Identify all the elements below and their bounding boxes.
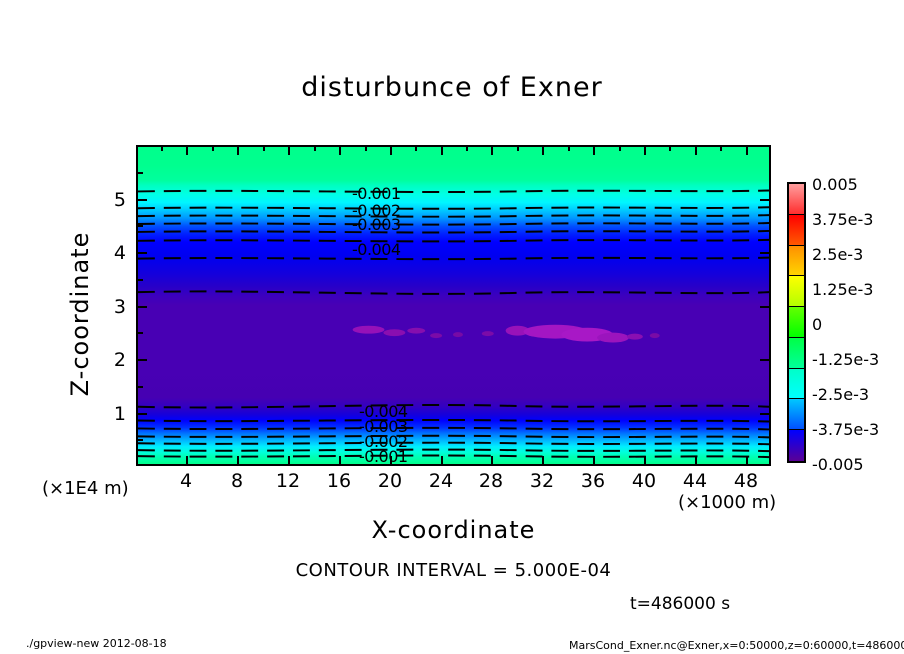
axis-tick-top-minor <box>161 145 163 151</box>
colorbar-band <box>789 399 804 430</box>
axis-tick-top <box>441 145 443 155</box>
axis-tick-left <box>136 413 147 415</box>
axis-tick-bottom <box>237 456 239 466</box>
colorbar-tick-label: -1.25e-3 <box>812 350 879 369</box>
axis-tick-top-minor <box>568 145 570 151</box>
axis-tick-left-minor <box>136 225 143 227</box>
footer-source: MarsCond_Exner.nc@Exner,x=0:50000,z=0:60… <box>569 639 904 652</box>
axis-tick-left-minor <box>136 172 143 174</box>
axis-tick-top <box>542 145 544 155</box>
x-tick-label: 4 <box>166 470 206 492</box>
colorbar-band <box>789 246 804 277</box>
axis-tick-top-minor <box>212 145 214 151</box>
x-axis-title: X-coordinate <box>136 516 771 544</box>
axis-tick-top <box>390 145 392 155</box>
axis-tick-bottom <box>593 456 595 466</box>
axis-tick-top <box>746 145 748 155</box>
colorbar-band <box>789 215 804 246</box>
axis-tick-top-minor <box>365 145 367 151</box>
axis-tick-top <box>491 145 493 155</box>
colorbar-tick-label: 2.5e-3 <box>812 245 863 264</box>
colorbar-tick-label: -2.5e-3 <box>812 385 869 404</box>
axis-tick-bottom <box>695 456 697 466</box>
axis-tick-top-minor <box>669 145 671 151</box>
contour-label: -0.004 <box>352 240 401 259</box>
axis-tick-left-minor <box>136 439 143 441</box>
axis-tick-bottom <box>390 456 392 466</box>
x-tick-label: 36 <box>573 470 613 492</box>
axis-tick-left <box>136 359 147 361</box>
axis-tick-top <box>186 145 188 155</box>
contour-interval-text: CONTOUR INTERVAL = 5.000E-04 <box>136 560 771 581</box>
axis-tick-left <box>136 199 147 201</box>
axis-tick-top <box>288 145 290 155</box>
colorbar-tick-label: 1.25e-3 <box>812 280 873 299</box>
y-tick-label: 2 <box>90 349 126 371</box>
x-tick-label: 8 <box>217 470 257 492</box>
axis-tick-top <box>644 145 646 155</box>
axis-tick-bottom <box>186 456 188 466</box>
contour-label: -0.001 <box>359 447 408 466</box>
axis-tick-top-minor <box>415 145 417 151</box>
axis-tick-top-minor <box>619 145 621 151</box>
x-axis-units: (×1000 m) <box>678 492 776 513</box>
axis-tick-top <box>237 145 239 155</box>
x-tick-label: 40 <box>624 470 664 492</box>
colorbar-tick-label: 3.75e-3 <box>812 210 873 229</box>
footer-command: ./gpview-new 2012-08-18 <box>26 637 167 650</box>
axis-tick-top-minor <box>517 145 519 151</box>
x-tick-label: 48 <box>726 470 766 492</box>
axis-tick-bottom <box>644 456 646 466</box>
axis-tick-top-minor <box>720 145 722 151</box>
axis-tick-top <box>593 145 595 155</box>
colorbar-band <box>789 276 804 307</box>
colorbar-tick-label: -3.75e-3 <box>812 420 879 439</box>
y-tick-label: 1 <box>90 403 126 425</box>
axis-tick-right <box>760 413 771 415</box>
x-tick-label: 16 <box>319 470 359 492</box>
y-tick-label: 3 <box>90 296 126 318</box>
x-tick-label: 24 <box>421 470 461 492</box>
axis-tick-bottom <box>746 456 748 466</box>
axis-tick-left-minor <box>136 332 143 334</box>
axis-tick-top <box>695 145 697 155</box>
colorbar-band <box>789 307 804 338</box>
x-tick-label: 20 <box>370 470 410 492</box>
contour-field <box>138 147 769 464</box>
axis-tick-right <box>760 306 771 308</box>
x-tick-label: 32 <box>522 470 562 492</box>
axis-tick-left-minor <box>136 386 143 388</box>
colorbar-band <box>789 338 804 369</box>
axis-tick-right <box>760 252 771 254</box>
z-axis-units: (×1E4 m) <box>42 478 129 499</box>
colorbar-band <box>789 430 804 461</box>
axis-tick-bottom <box>339 456 341 466</box>
contour-plot-area[interactable]: -0.001 -0.002 -0.003 -0.004 -0.004 -0.00… <box>136 145 771 466</box>
x-tick-label: 44 <box>675 470 715 492</box>
axis-tick-bottom <box>441 456 443 466</box>
contour-label: -0.003 <box>352 215 401 234</box>
axis-tick-top-minor <box>466 145 468 151</box>
colorbar[interactable] <box>787 182 806 463</box>
y-tick-label: 4 <box>90 242 126 264</box>
axis-tick-right <box>760 359 771 361</box>
page-title: disturbunce of Exner <box>0 72 904 103</box>
axis-tick-top <box>339 145 341 155</box>
axis-tick-bottom <box>542 456 544 466</box>
axis-tick-left-minor <box>136 279 143 281</box>
colorbar-band <box>789 184 804 215</box>
axis-tick-left <box>136 252 147 254</box>
colorbar-tick-label: -0.005 <box>812 455 864 474</box>
y-tick-label: 5 <box>90 189 126 211</box>
axis-tick-bottom <box>288 456 290 466</box>
x-tick-label: 28 <box>471 470 511 492</box>
axis-tick-bottom <box>491 456 493 466</box>
colorbar-tick-label: 0 <box>812 315 822 334</box>
colorbar-tick-label: 0.005 <box>812 175 858 194</box>
colorbar-band <box>789 369 804 400</box>
axis-tick-right <box>760 199 771 201</box>
time-stamp: t=486000 s <box>630 594 730 614</box>
axis-tick-left <box>136 306 147 308</box>
axis-tick-top-minor <box>263 145 265 151</box>
x-tick-label: 12 <box>268 470 308 492</box>
axis-tick-top-minor <box>314 145 316 151</box>
y-axis-title: Z-coordinate <box>66 194 94 434</box>
